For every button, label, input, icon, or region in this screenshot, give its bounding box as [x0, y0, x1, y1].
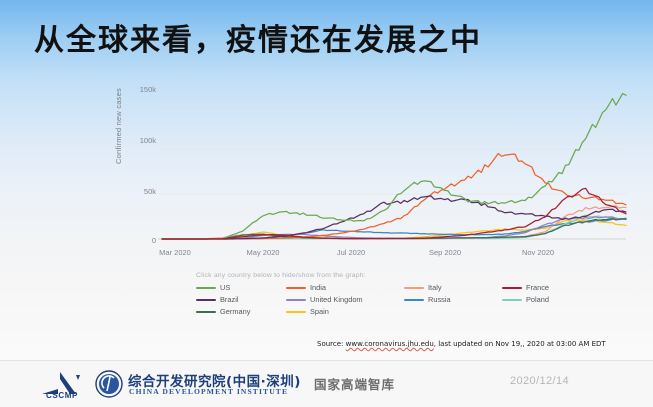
legend-hint: Click any country below to hide/show fro… [196, 272, 616, 279]
x-tick-sep: Sep 2020 [410, 248, 480, 257]
legend-spacer [404, 307, 502, 316]
legend-item-united-kingdom[interactable]: United Kingdom [286, 295, 404, 304]
legend-swatch-icon [404, 287, 424, 289]
legend-item-us[interactable]: US [196, 283, 286, 292]
legend-label: Poland [526, 295, 549, 304]
legend-label: India [310, 283, 326, 292]
x-tick-mar: Mar 2020 [140, 248, 210, 257]
legend-spacer [502, 307, 592, 316]
x-tick-nov: Nov 2020 [503, 248, 573, 257]
legend-label: US [220, 283, 230, 292]
legend-swatch-icon [196, 287, 216, 289]
legend-swatch-icon [286, 287, 306, 289]
slide-date: 2020/12/14 [510, 375, 569, 387]
legend-item-brazil[interactable]: Brazil [196, 295, 286, 304]
legend-swatch-icon [286, 299, 306, 301]
legend-swatch-icon [196, 299, 216, 301]
legend-swatch-icon [404, 299, 424, 301]
chart-plot-area [118, 72, 638, 272]
cscmp-label: CSCMP [36, 391, 88, 400]
cdi-emblem-icon [95, 370, 123, 398]
legend-swatch-icon [286, 311, 306, 313]
legend-item-poland[interactable]: Poland [502, 295, 592, 304]
legend-item-india[interactable]: India [286, 283, 404, 292]
legend-label: Spain [310, 307, 329, 316]
series-line-france [162, 188, 626, 239]
cdi-name-en: CHINA DEVELOPMENT INSTITUTE [129, 387, 288, 396]
chart-legend: Click any country below to hide/show fro… [196, 272, 616, 316]
legend-label: France [526, 283, 549, 292]
x-tick-may: May 2020 [228, 248, 298, 257]
legend-item-spain[interactable]: Spain [286, 307, 404, 316]
legend-label: United Kingdom [310, 295, 363, 304]
legend-label: Italy [428, 283, 442, 292]
source-note: Source: www.coronavirus.jhu.edu, last up… [317, 340, 606, 348]
series-line-us [162, 94, 626, 239]
legend-swatch-icon [196, 311, 216, 313]
series-line-india [162, 154, 626, 240]
slide: 从全球来看，疫情还在发展之中 Confirmed new cases 150k … [0, 0, 653, 407]
legend-label: Germany [220, 307, 250, 316]
slide-footer: CSCMP 综合开发研究院(中国·深圳) CHINA DEVELOPMENT I… [0, 360, 653, 407]
series-line-italy [162, 206, 626, 239]
source-link[interactable]: www.coronavirus.jhu.edu [346, 340, 434, 348]
legend-label: Brazil [220, 295, 238, 304]
think-tank-label: 国家高端智库 [314, 374, 395, 393]
legend-swatch-icon [502, 287, 522, 289]
source-suffix: , last updated on Nov 19,, 2020 at 03:00… [434, 340, 606, 348]
page-title: 从全球来看，疫情还在发展之中 [34, 24, 482, 59]
legend-item-germany[interactable]: Germany [196, 307, 286, 316]
source-prefix: Source: [317, 340, 343, 348]
legend-label: Russia [428, 295, 451, 304]
legend-swatch-icon [502, 299, 522, 301]
legend-item-france[interactable]: France [502, 283, 592, 292]
legend-grid: USIndiaItalyFranceBrazilUnited KingdomRu… [196, 283, 616, 316]
x-tick-jul: Jul 2020 [316, 248, 386, 257]
legend-item-italy[interactable]: Italy [404, 283, 502, 292]
legend-item-russia[interactable]: Russia [404, 295, 502, 304]
